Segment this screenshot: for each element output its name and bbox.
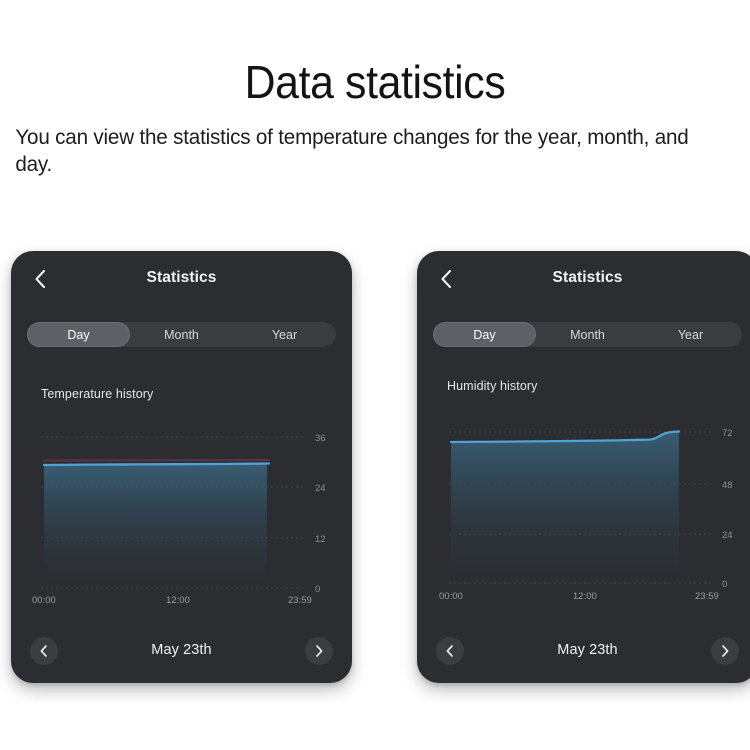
y-tick-24: 24 (722, 530, 733, 541)
panel-header-temperature: Statistics (11, 251, 352, 307)
y-tick-12: 12 (315, 534, 326, 545)
phone-panel-temperature: Statistics Day Month Year Temperature hi… (11, 251, 352, 683)
x-tick-middle: 12:00 (573, 591, 597, 602)
phone-panels: Statistics Day Month Year Temperature hi… (0, 251, 750, 691)
current-date-label: May 23th (11, 642, 352, 658)
temperature-area (44, 464, 267, 588)
next-day-button[interactable] (711, 637, 739, 665)
panel-title: Statistics (11, 269, 352, 287)
segment-year[interactable]: Year (233, 322, 336, 347)
date-navigation-temperature: May 23th (11, 625, 352, 683)
phone-panel-humidity: Statistics Day Month Year Humidity histo… (417, 251, 750, 683)
temperature-history-label: Temperature history (41, 387, 153, 401)
panel-header-humidity: Statistics (417, 251, 750, 307)
y-tick-48: 48 (722, 480, 733, 491)
temperature-secondary-line (44, 460, 269, 461)
y-tick-72: 72 (722, 428, 733, 439)
x-tick-start: 00:00 (32, 595, 56, 606)
y-tick-36: 36 (315, 433, 326, 444)
segmented-control-period[interactable]: Day Month Year (27, 322, 336, 347)
x-tick-middle: 12:00 (166, 595, 190, 606)
humidity-chart: 72 48 24 0 00:00 12:00 23:59 (417, 413, 750, 606)
temperature-chart: 36 24 12 0 00:00 12:00 23:59 (11, 421, 352, 606)
page-title: Data statistics (26, 58, 724, 106)
x-tick-end: 23:59 (695, 591, 719, 602)
y-tick-0: 0 (315, 584, 320, 595)
next-day-button[interactable] (305, 637, 333, 665)
humidity-area (451, 432, 679, 583)
y-tick-24: 24 (315, 483, 326, 494)
temperature-line (44, 464, 269, 466)
segment-day[interactable]: Day (27, 322, 130, 347)
panel-title: Statistics (417, 269, 750, 287)
segmented-control-period[interactable]: Day Month Year (433, 322, 742, 347)
page-subtitle: You can view the statistics of temperatu… (0, 124, 720, 178)
segment-year[interactable]: Year (639, 322, 742, 347)
current-date-label: May 23th (417, 642, 750, 658)
x-tick-end: 23:59 (288, 595, 312, 606)
humidity-history-label: Humidity history (447, 379, 538, 393)
x-tick-start: 00:00 (439, 591, 463, 602)
segment-month[interactable]: Month (130, 322, 233, 347)
humidity-line (451, 432, 679, 443)
y-tick-0: 0 (722, 579, 727, 590)
segment-month[interactable]: Month (536, 322, 639, 347)
page-header: Data statistics You can view the statist… (0, 0, 750, 178)
date-navigation-humidity: May 23th (417, 625, 750, 683)
segment-day[interactable]: Day (433, 322, 536, 347)
